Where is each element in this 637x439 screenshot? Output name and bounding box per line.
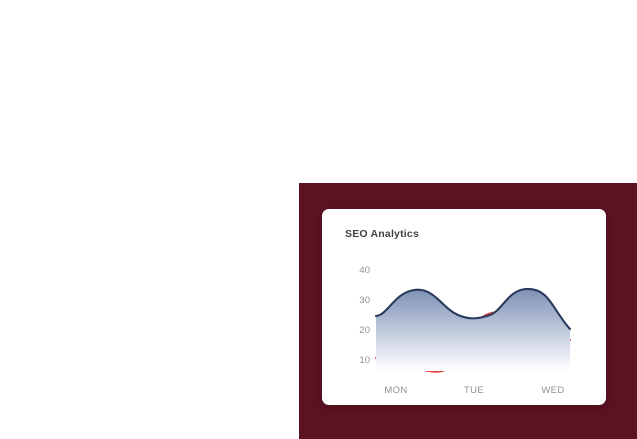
seo-analytics-area-chart: 40 30 20 10 — [322, 251, 606, 405]
y-tick-20: 20 — [359, 325, 370, 336]
screen-canvas: SEO Analytics 40 — [0, 0, 637, 439]
page-title: SEO Analytics — [345, 228, 419, 240]
y-tick-30: 30 — [359, 295, 370, 306]
x-axis-ticks: MON TUE WED — [384, 385, 564, 396]
x-tick-mon: MON — [384, 385, 407, 396]
y-axis-ticks: 40 30 20 10 — [359, 265, 370, 366]
seo-analytics-card: SEO Analytics 40 — [322, 209, 606, 405]
x-tick-wed: WED — [541, 385, 564, 396]
y-tick-40: 40 — [359, 265, 370, 276]
plot-area — [376, 289, 570, 372]
series-visits-area — [376, 289, 570, 371]
y-tick-10: 10 — [359, 355, 370, 366]
x-tick-tue: TUE — [464, 385, 484, 396]
series-visits — [376, 289, 570, 371]
